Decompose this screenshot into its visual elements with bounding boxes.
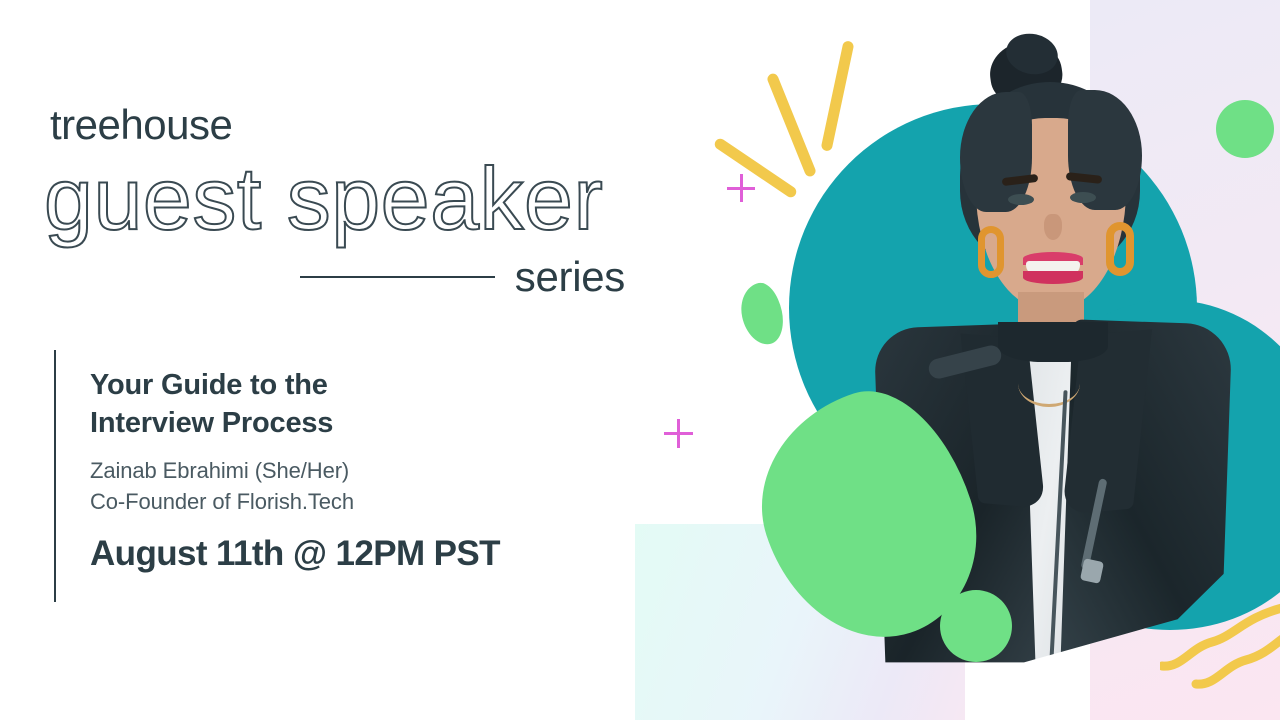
session-title: Your Guide to the Interview Process: [90, 366, 630, 443]
wavy-line-icon: [1160, 592, 1280, 692]
promo-slide: treehouse guest speaker series Your Guid…: [0, 0, 1280, 720]
hair-bun-top: [1002, 29, 1061, 79]
sparkle-stroke-icon: [766, 72, 817, 178]
sparkle-stroke-icon: [820, 40, 854, 152]
plus-mark-icon: [727, 174, 755, 202]
hair-bun: [986, 37, 1066, 108]
sparkle-stroke-icon: [713, 137, 799, 200]
brand-wordmark: treehouse: [50, 104, 232, 146]
series-lockup: series: [300, 256, 625, 298]
green-circle-top-right: [1216, 100, 1274, 158]
speaker-role: Co-Founder of Florish.Tech: [90, 486, 630, 517]
info-accent-rule: [54, 350, 56, 602]
green-circle-bottom: [940, 590, 1012, 662]
plus-mark-icon: [664, 419, 693, 448]
series-divider-rule: [300, 276, 495, 278]
session-info: Your Guide to the Interview Process Zain…: [90, 366, 630, 575]
session-title-line-2: Interview Process: [90, 407, 333, 439]
event-date-time: August 11th @ 12PM PST: [90, 533, 630, 575]
headline-outline: guest speaker: [44, 155, 603, 243]
series-label: series: [515, 256, 625, 298]
session-title-line-1: Your Guide to the: [90, 369, 328, 401]
green-organic-blob-small: [736, 280, 788, 349]
speaker-name: Zainab Ebrahimi (She/Her): [90, 455, 630, 486]
